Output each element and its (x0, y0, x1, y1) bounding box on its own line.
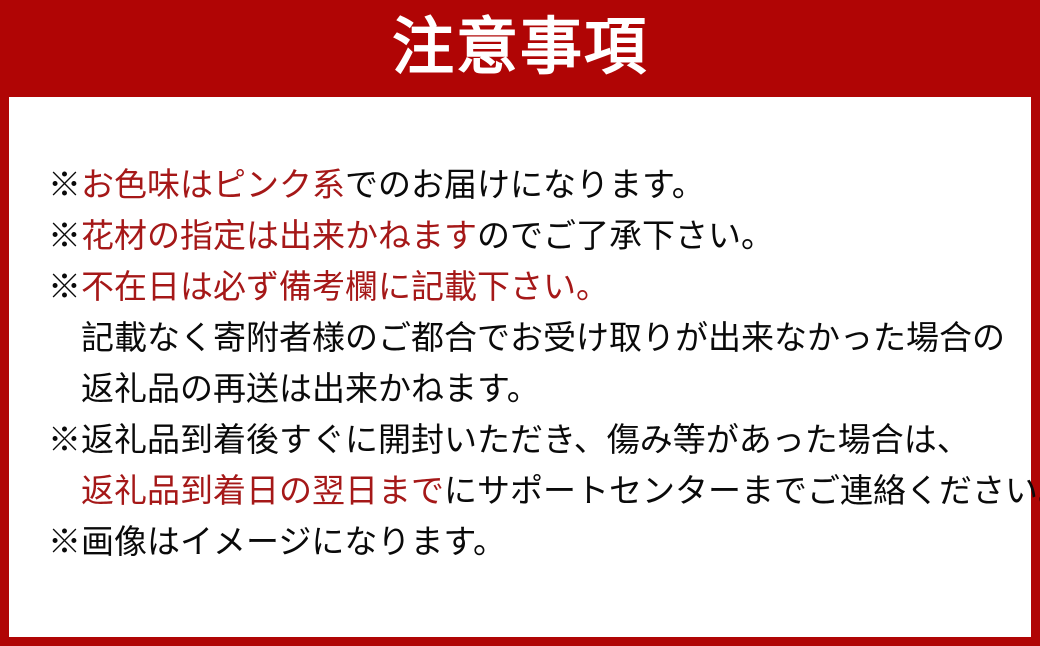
notice-flower-highlight: 花材の指定は出来かねます (81, 216, 477, 255)
notice-item-absence-detail-1: 記載なく寄附者様のご都合でお受け取りが出来なかった場合の (48, 312, 1008, 363)
bullet-mark-icon: ※ (48, 216, 81, 255)
notice-card: 注意事項 ※お色味はピンク系でのお届けになります。 ※花材の指定は出来かねますの… (0, 0, 1040, 646)
notice-color-highlight: お色味はピンク系 (81, 165, 345, 204)
notice-item-flower-selection: ※花材の指定は出来かねますのでご了承下さい。 (48, 210, 1008, 261)
notice-flower-rest: のでご了承下さい。 (477, 216, 774, 255)
notice-item-damage-check: ※返礼品到着後すぐに開封いただき、傷み等があった場合は、 (48, 414, 1008, 465)
notice-absence-detail-text-1: 記載なく寄附者様のご都合でお受け取りが出来なかった場合の (81, 318, 1005, 357)
bullet-mark-icon: ※ (48, 522, 81, 561)
notice-body-frame: ※お色味はピンク系でのお届けになります。 ※花材の指定は出来かねますのでご了承下… (0, 97, 1040, 646)
notice-item-color: ※お色味はピンク系でのお届けになります。 (48, 159, 1008, 210)
bullet-mark-icon: ※ (48, 165, 81, 204)
notice-item-absence-days: ※不在日は必ず備考欄に記載下さい。 (48, 261, 1008, 312)
notice-image-text: 画像はイメージになります。 (81, 522, 506, 561)
notice-damage-text: 返礼品到着後すぐに開封いただき、傷み等があった場合は、 (81, 420, 970, 459)
page-title: 注意事項 (392, 16, 648, 82)
notice-list: ※お色味はピンク系でのお届けになります。 ※花材の指定は出来かねますのでご了承下… (48, 159, 1008, 567)
notice-absence-highlight: 不在日は必ず備考欄に記載下さい。 (81, 267, 609, 306)
bullet-mark-icon: ※ (48, 420, 81, 459)
notice-item-absence-detail-2: 返礼品の再送は出来かねます。 (48, 363, 1008, 414)
notice-item-support-contact: 返礼品到着日の翌日までにサポートセンターまでご連絡ください。 (48, 465, 1008, 516)
header-banner: 注意事項 (0, 0, 1040, 97)
notice-support-rest: にサポートセンターまでご連絡ください。 (444, 471, 1040, 510)
notice-item-image-disclaimer: ※画像はイメージになります。 (48, 516, 1008, 567)
notice-absence-detail-text-2: 返礼品の再送は出来かねます。 (81, 369, 540, 408)
notice-support-deadline-highlight: 返礼品到着日の翌日まで (81, 471, 444, 510)
notice-color-rest: でのお届けになります。 (345, 165, 705, 204)
bullet-mark-icon: ※ (48, 267, 81, 306)
